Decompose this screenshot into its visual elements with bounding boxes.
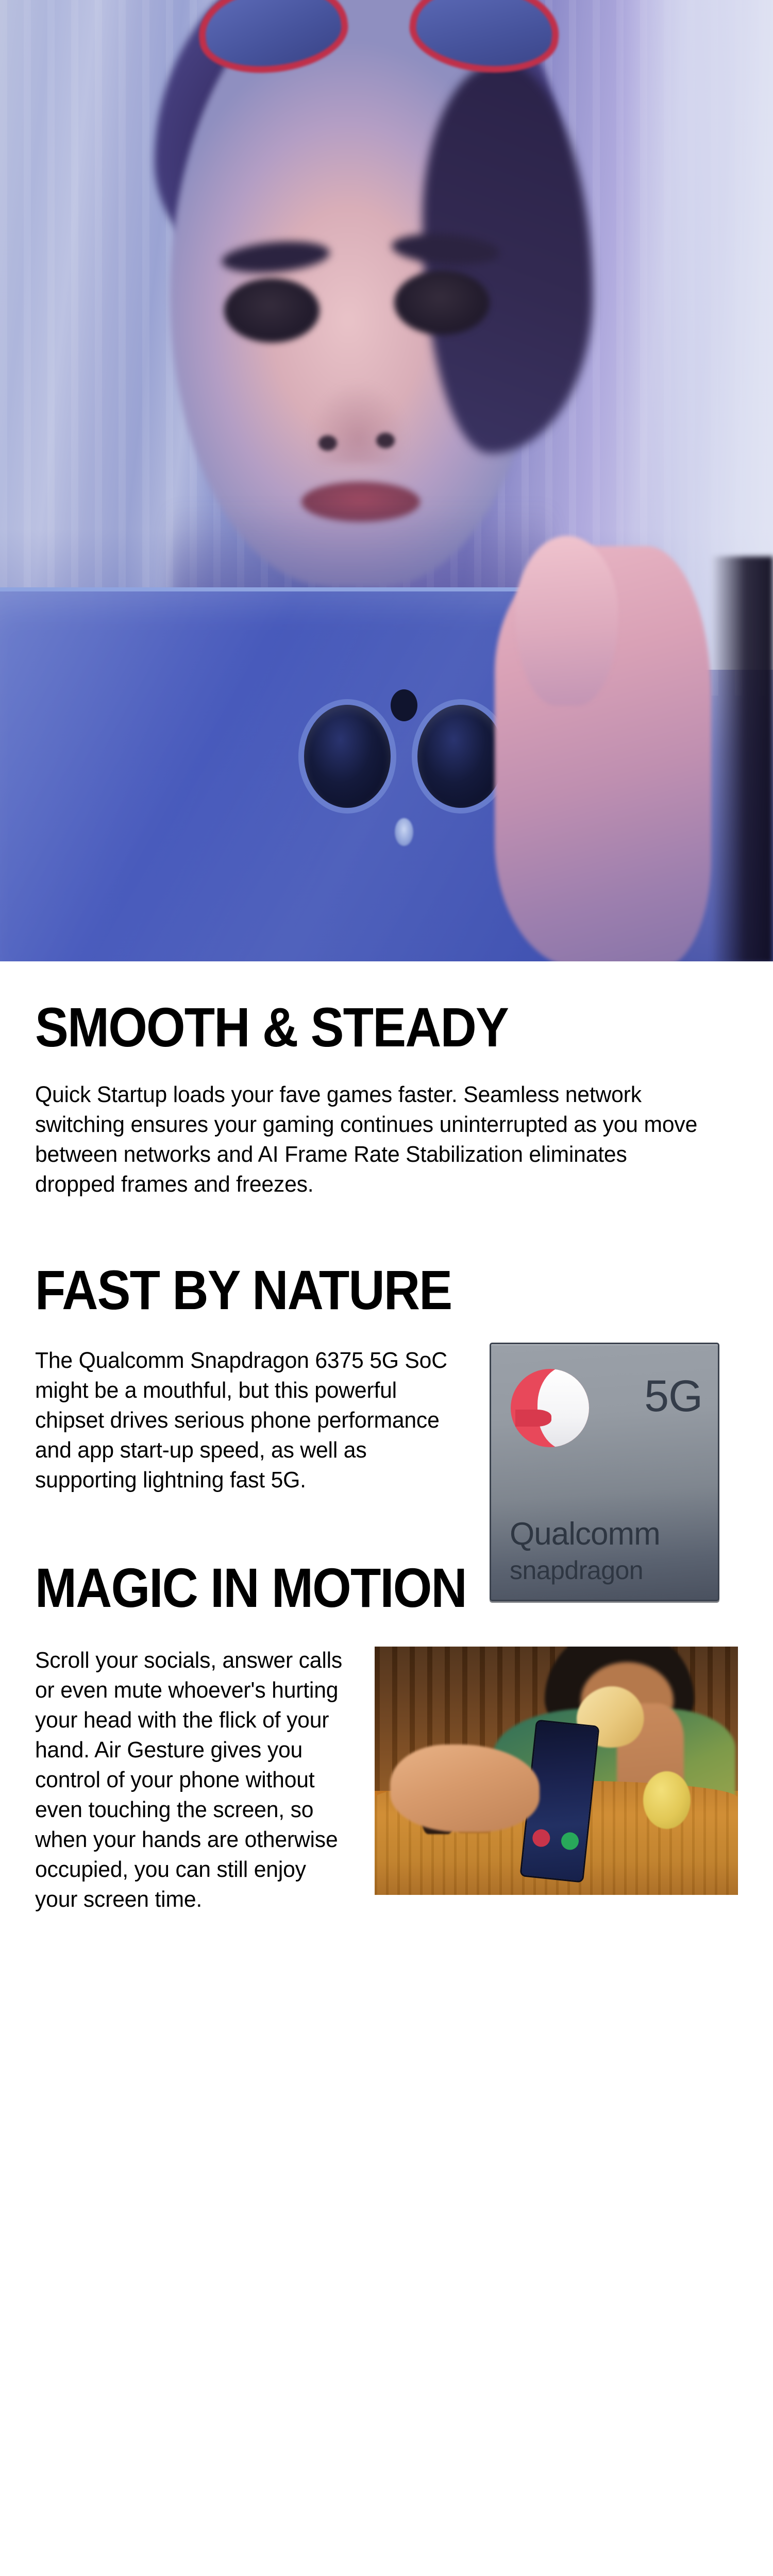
camera-microphone-icon	[395, 818, 413, 846]
hero-image	[0, 0, 773, 961]
section-fast-by-nature: FAST BY NATURE The Qualcomm Snapdragon 6…	[35, 1199, 738, 1495]
person-thumb	[515, 536, 618, 706]
snapdragon-logo-tail	[515, 1410, 551, 1427]
section-heading-smooth: SMOOTH & STEADY	[35, 999, 668, 1055]
chip-5g-badge: 5G	[644, 1371, 702, 1422]
section-heading-fast: FAST BY NATURE	[35, 1262, 668, 1318]
fast-content-row: The Qualcomm Snapdragon 6375 5G SoC migh…	[35, 1346, 738, 1495]
person-eye-right	[394, 270, 490, 335]
content-area: SMOOTH & STEADY Quick Startup loads your…	[0, 961, 773, 1914]
chip-brand-name: Qualcomm	[510, 1516, 660, 1552]
section-body-fast: The Qualcomm Snapdragon 6375 5G SoC migh…	[35, 1346, 455, 1495]
sunglasses-lens-left	[194, 0, 353, 81]
camera-flash-icon	[391, 689, 417, 721]
snapdragon-logo-swirl	[537, 1369, 589, 1447]
camera-lens-secondary	[417, 705, 504, 808]
camera-lens-primary	[304, 705, 391, 808]
hero-dark-edge	[711, 556, 773, 961]
person-nostril-left	[318, 435, 337, 451]
camera-module	[294, 689, 500, 859]
person-nostril-right	[376, 433, 395, 448]
person-nose	[309, 381, 407, 464]
snapdragon-logo-icon	[511, 1369, 589, 1447]
magic-content-wrap: Scroll your socials, answer calls or eve…	[35, 1646, 738, 1914]
snapdragon-logo-disc	[511, 1369, 589, 1447]
section-smooth-and-steady: SMOOTH & STEADY Quick Startup loads your…	[35, 961, 738, 1199]
section-body-magic: Scroll your socials, answer calls or eve…	[35, 1646, 717, 1914]
person-eye-left	[224, 278, 320, 343]
section-body-smooth: Quick Startup loads your fave games fast…	[35, 1080, 700, 1199]
sunglasses	[198, 0, 559, 93]
section-heading-magic: MAGIC IN MOTION	[35, 1560, 668, 1616]
sunglasses-lens-right	[406, 0, 563, 80]
